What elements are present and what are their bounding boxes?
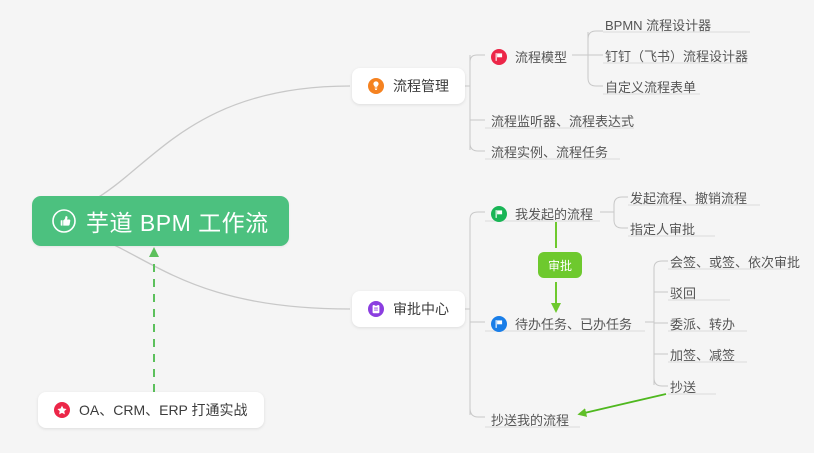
node-instance-task-label: 流程实例、流程任务 (491, 145, 608, 160)
node-cc-label: 抄送 (670, 380, 696, 395)
relation-label-approval-text: 审批 (548, 257, 572, 274)
node-reject[interactable]: 驳回 (668, 278, 700, 304)
flag-icon (491, 316, 507, 332)
node-process-model-label: 流程模型 (515, 50, 567, 65)
edge-ac-to-ccme (470, 408, 485, 417)
relation-cc-to-ccme-arrow (580, 394, 666, 414)
floating-node-oa-crm-erp[interactable]: OA、CRM、ERP 打通实战 (38, 392, 264, 428)
edge-pmodel-to-bpmn (588, 31, 603, 39)
node-bpmn-designer-label: BPMN 流程设计器 (605, 18, 711, 33)
edge-mystarted-to-start (614, 197, 628, 205)
node-assignee-approval[interactable]: 指定人审批 (628, 214, 699, 240)
node-listener-expression-label: 流程监听器、流程表达式 (491, 114, 634, 129)
edge-pmodel-to-customform (588, 78, 603, 86)
node-dingtalk-feishu-designer-label: 钉钉（飞书）流程设计器 (605, 49, 748, 64)
branch-node-process-management-label: 流程管理 (393, 76, 449, 96)
node-countersign[interactable]: 会签、或签、依次审批 (668, 247, 804, 273)
node-add-remove-sign[interactable]: 加签、减签 (668, 340, 739, 366)
edge-pm-to-process-model (470, 55, 485, 62)
edge-ac-to-mystarted (470, 212, 485, 219)
node-custom-process-form[interactable]: 自定义流程表单 (603, 72, 700, 98)
node-todo-done-tasks[interactable]: 待办任务、已办任务 (489, 309, 636, 335)
edge-pm-to-instance (470, 143, 485, 151)
node-dingtalk-feishu-designer[interactable]: 钉钉（飞书）流程设计器 (603, 41, 752, 67)
root-node-label: 芋道 BPM 工作流 (86, 204, 269, 238)
node-reject-label: 驳回 (670, 286, 696, 301)
node-todo-done-tasks-label: 待办任务、已办任务 (515, 317, 632, 332)
edge-todo-to-cc (654, 378, 668, 386)
thumbs-up-icon (52, 209, 76, 233)
node-bpmn-designer[interactable]: BPMN 流程设计器 (603, 10, 715, 36)
node-add-remove-sign-label: 加签、减签 (670, 348, 735, 363)
relation-label-approval[interactable]: 审批 (538, 252, 582, 278)
node-delegate-transfer-label: 委派、转办 (670, 317, 735, 332)
branch-node-approval-center-label: 审批中心 (393, 299, 449, 319)
root-node[interactable]: 芋道 BPM 工作流 (32, 196, 289, 246)
edge-mystarted-to-assignee (614, 220, 628, 228)
node-countersign-label: 会签、或签、依次审批 (670, 255, 800, 270)
node-assignee-approval-label: 指定人审批 (630, 222, 695, 237)
node-cc-to-me[interactable]: 抄送我的流程 (489, 405, 573, 431)
node-instance-task[interactable]: 流程实例、流程任务 (489, 137, 612, 163)
node-start-cancel-process-label: 发起流程、撤销流程 (630, 191, 747, 206)
clipboard-icon (368, 301, 384, 317)
mindmap-canvas: 芋道 BPM 工作流 流程管理 审批中心 (0, 0, 814, 453)
node-custom-process-form-label: 自定义流程表单 (605, 80, 696, 95)
node-cc[interactable]: 抄送 (668, 372, 700, 398)
floating-node-oa-crm-erp-label: OA、CRM、ERP 打通实战 (79, 400, 248, 420)
node-cc-to-me-label: 抄送我的流程 (491, 413, 569, 428)
node-delegate-transfer[interactable]: 委派、转办 (668, 309, 739, 335)
node-start-cancel-process[interactable]: 发起流程、撤销流程 (628, 183, 751, 209)
node-my-started-processes[interactable]: 我发起的流程 (489, 199, 597, 225)
branch-node-process-management[interactable]: 流程管理 (352, 68, 465, 104)
node-listener-expression[interactable]: 流程监听器、流程表达式 (489, 106, 638, 132)
star-icon (54, 402, 70, 418)
branch-node-approval-center[interactable]: 审批中心 (352, 291, 465, 327)
node-process-model[interactable]: 流程模型 (489, 42, 571, 68)
flag-icon (491, 206, 507, 222)
flag-icon (491, 49, 507, 65)
edge-todo-to-countersign (654, 261, 668, 268)
lightbulb-pin-icon (368, 78, 384, 94)
node-my-started-processes-label: 我发起的流程 (515, 207, 593, 222)
